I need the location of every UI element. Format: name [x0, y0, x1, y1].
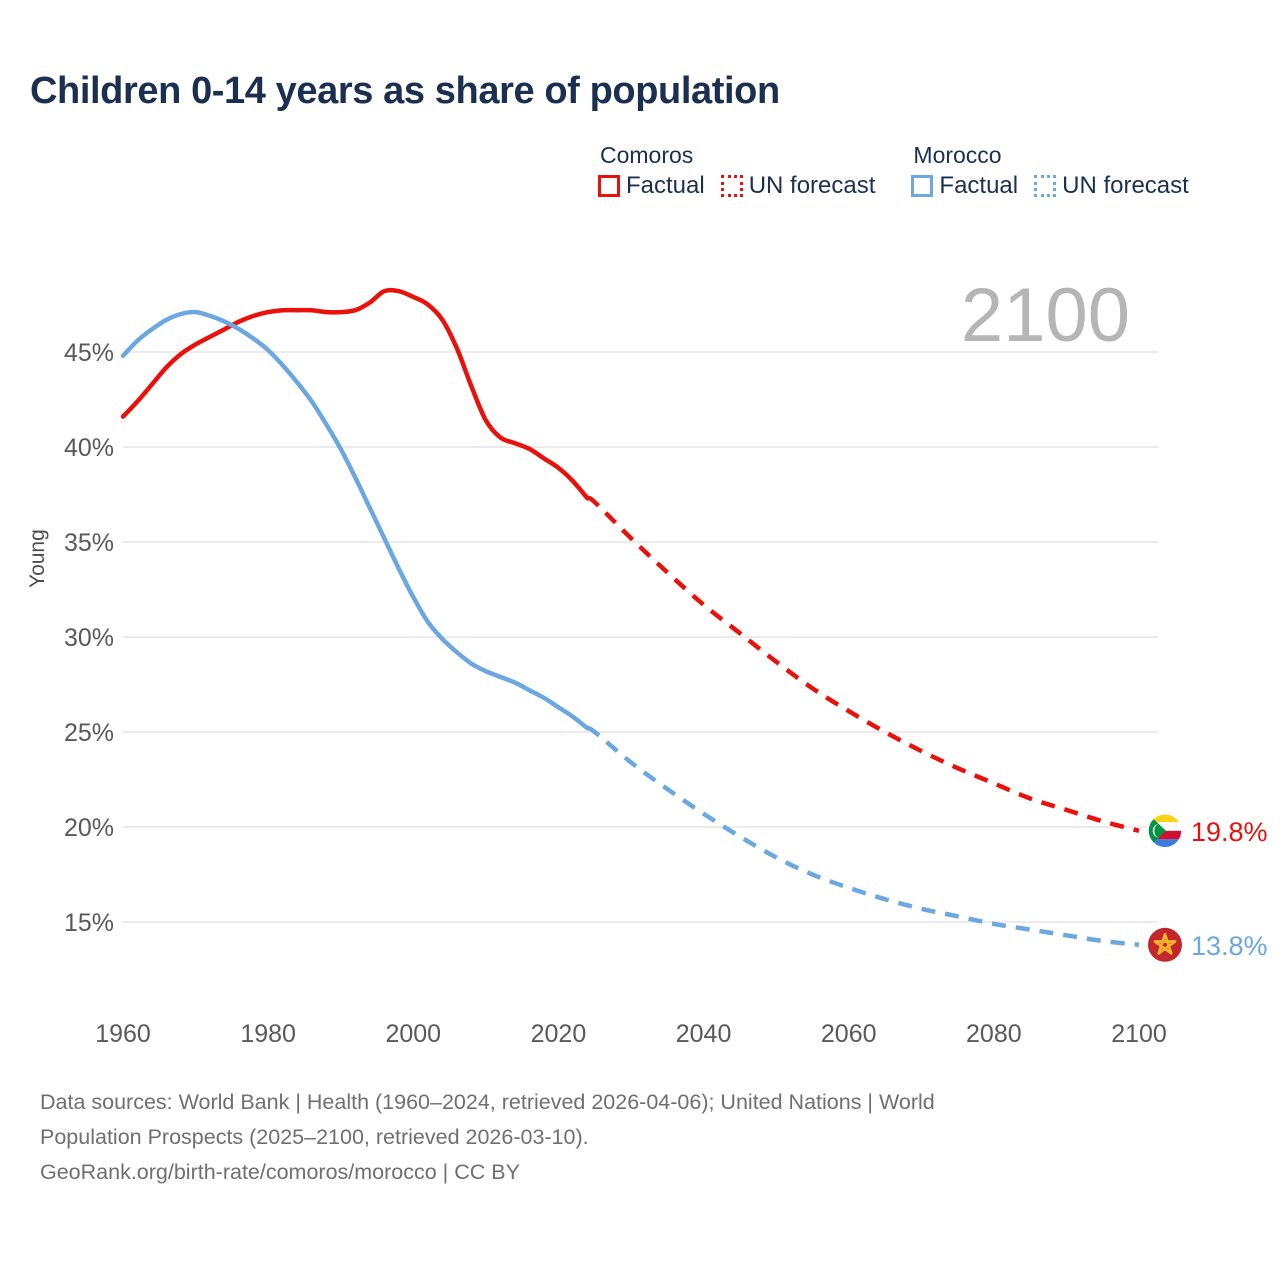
x-tick-labels: 19601980200020202040206020802100 — [95, 1020, 1167, 1048]
morocco-end-label: 13.8% — [1191, 931, 1268, 961]
series-line-factual-morocco — [123, 312, 587, 728]
x-tick-label: 2100 — [1111, 1020, 1167, 1048]
morocco-flag-icon — [1148, 928, 1182, 962]
chart-page: Children 0-14 years as share of populati… — [0, 0, 1280, 1280]
comoros-flag-icon — [1148, 814, 1182, 848]
x-tick-label: 1980 — [240, 1020, 296, 1048]
x-tick-label: 2000 — [385, 1020, 441, 1048]
x-tick-label: 2060 — [821, 1020, 877, 1048]
series-line-forecast-comoros — [587, 498, 1139, 831]
series-line-forecast-morocco — [587, 728, 1139, 945]
y-tick-label: 45% — [64, 339, 114, 367]
footer-line-2: Population Prospects (2025–2100, retriev… — [40, 1120, 1220, 1155]
x-tick-label: 2020 — [531, 1020, 587, 1048]
comoros-end-label: 19.8% — [1191, 817, 1268, 847]
y-tick-label: 15% — [64, 909, 114, 937]
y-tick-label: 20% — [64, 814, 114, 842]
x-tick-label: 2080 — [966, 1020, 1022, 1048]
series-lines — [123, 290, 1139, 945]
series-line-factual-comoros — [123, 290, 587, 498]
gridlines — [123, 352, 1158, 922]
x-tick-label: 2040 — [676, 1020, 732, 1048]
y-tick-label: 40% — [64, 434, 114, 462]
footer-sources: Data sources: World Bank | Health (1960–… — [40, 1085, 1220, 1189]
y-tick-label: 25% — [64, 719, 114, 747]
y-tick-labels: 15%20%25%30%35%40%45% — [64, 339, 114, 937]
end-markers: 19.8%13.8% — [1148, 814, 1268, 962]
y-tick-label: 30% — [64, 624, 114, 652]
y-tick-label: 35% — [64, 529, 114, 557]
footer-line-3: GeoRank.org/birth-rate/comoros/morocco |… — [40, 1155, 1220, 1190]
footer-line-1: Data sources: World Bank | Health (1960–… — [40, 1085, 1220, 1120]
x-tick-label: 1960 — [95, 1020, 151, 1048]
